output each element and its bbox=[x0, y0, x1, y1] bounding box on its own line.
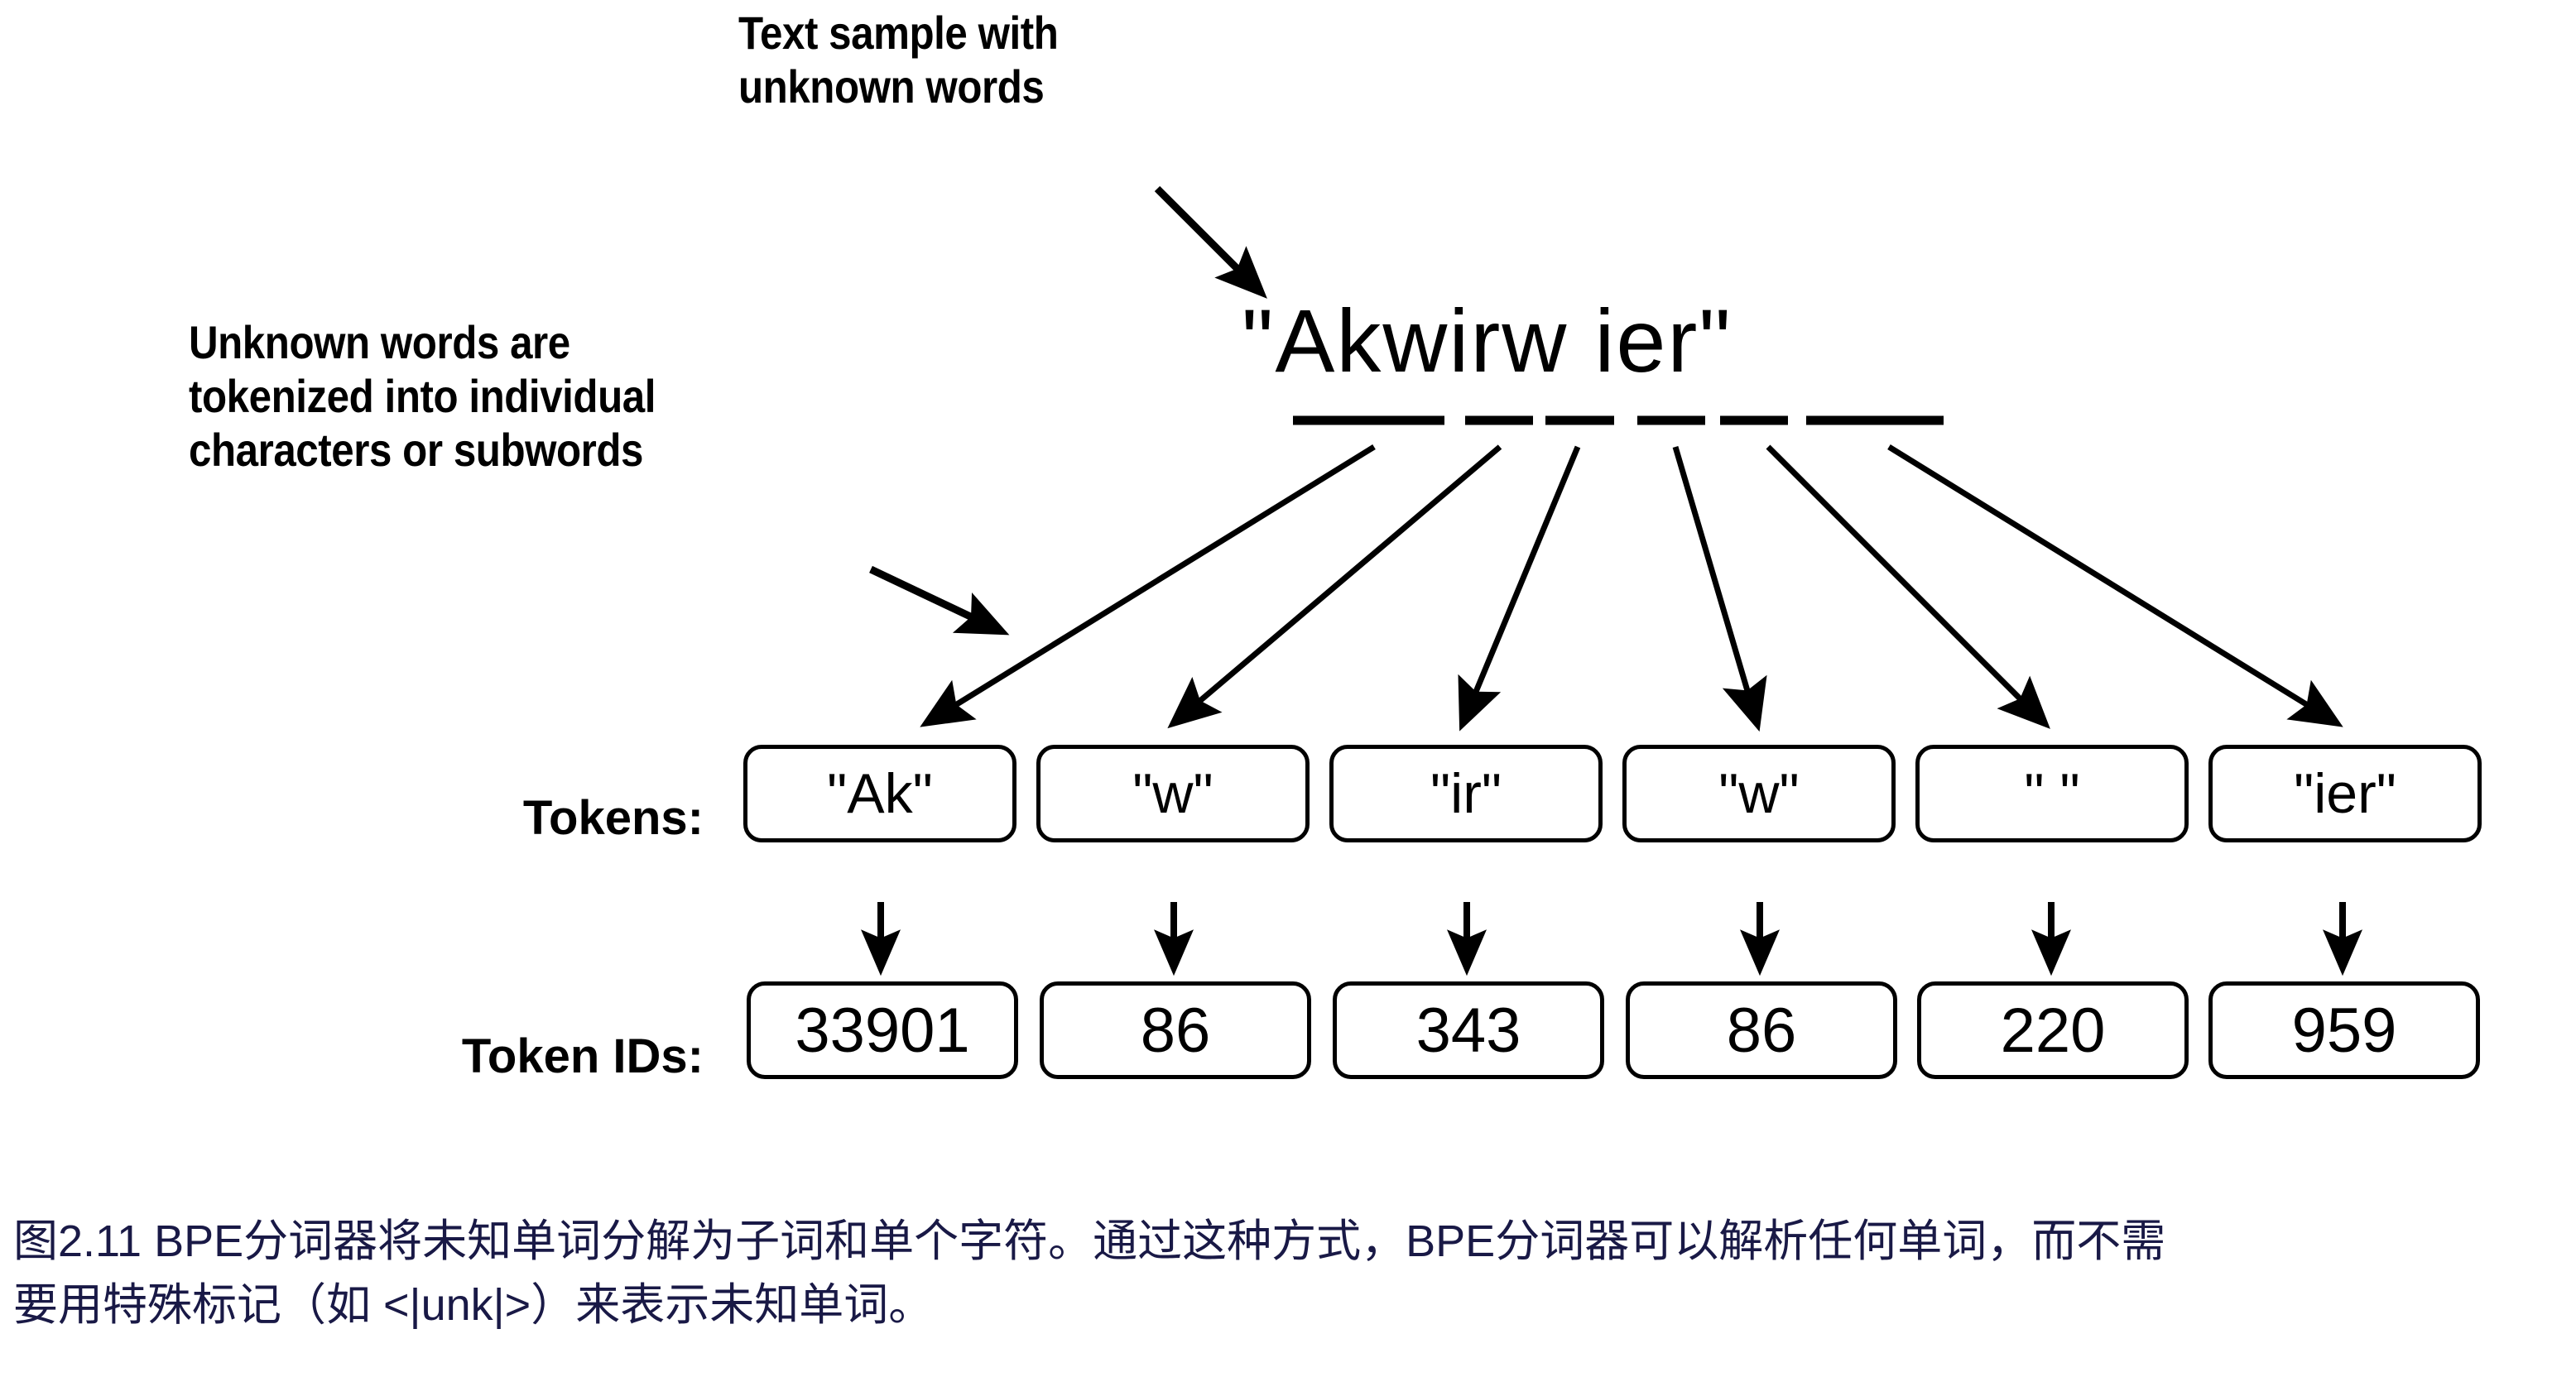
annotation-unknown-words: Unknown words are tokenized into individ… bbox=[189, 316, 656, 477]
row-label-token-ids: Token IDs: bbox=[58, 1029, 704, 1084]
token-id-chip: 86 bbox=[1626, 981, 1897, 1079]
token-chip: "w" bbox=[1622, 745, 1896, 842]
caption-line-1: 图2.11 BPE分词器将未知单词分解为子词和单个字符。通过这种方式，BPE分词… bbox=[13, 1210, 2571, 1274]
token-chip: "ir" bbox=[1329, 745, 1603, 842]
token-id-chip: 33901 bbox=[747, 981, 1018, 1079]
fanout-arrow-5 bbox=[1768, 447, 2043, 722]
token-chip: " " bbox=[1915, 745, 2189, 842]
annotation-text-sample: Text sample with unknown words bbox=[738, 7, 1058, 114]
sample-string: "Akwirw ier" bbox=[1242, 296, 1733, 386]
fanout-arrow-2 bbox=[1175, 447, 1500, 722]
token-id-chip: 959 bbox=[2208, 981, 2480, 1079]
token-chip: "ier" bbox=[2208, 745, 2482, 842]
fanout-arrow-6 bbox=[1889, 447, 2334, 722]
fanout-arrow-1 bbox=[929, 447, 1374, 722]
arrow-unknown-words-label bbox=[871, 569, 1000, 631]
token-id-chip: 220 bbox=[1917, 981, 2189, 1079]
token-chip: "Ak" bbox=[743, 745, 1016, 842]
row-label-tokens: Tokens: bbox=[58, 790, 704, 846]
token-to-id-arrows bbox=[881, 902, 2343, 967]
figure-root: Text sample with unknown words Unknown w… bbox=[0, 0, 2576, 1377]
fanout-arrows bbox=[929, 447, 2334, 722]
token-chip: "w" bbox=[1036, 745, 1310, 842]
fanout-arrow-3 bbox=[1463, 447, 1578, 722]
arrow-text-sample-to-string bbox=[1157, 189, 1260, 291]
token-id-chip: 343 bbox=[1333, 981, 1604, 1079]
token-id-chip: 86 bbox=[1040, 981, 1311, 1079]
figure-caption: 图2.11 BPE分词器将未知单词分解为子词和单个字符。通过这种方式，BPE分词… bbox=[13, 1210, 2571, 1336]
fanout-arrow-4 bbox=[1675, 447, 1757, 722]
diagram-connectors bbox=[0, 0, 2576, 1377]
caption-line-2: 要用特殊标记（如 <|unk|>）来表示未知单词。 bbox=[13, 1274, 2571, 1337]
